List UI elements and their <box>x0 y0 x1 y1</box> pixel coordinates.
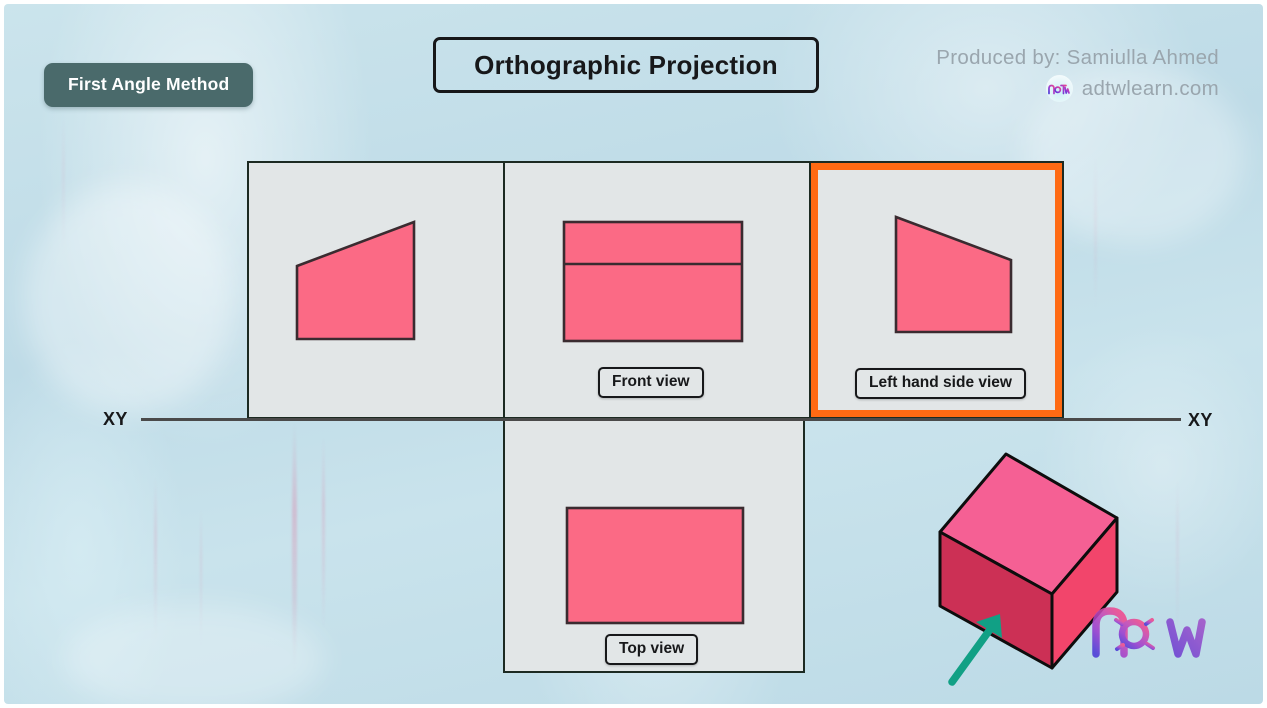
xy-label-left: XY <box>103 409 128 430</box>
slide-background: First Angle Method Orthographic Projecti… <box>4 4 1263 704</box>
marble-vein <box>322 434 325 634</box>
adtw-watermark <box>1090 596 1208 662</box>
first-angle-method-chip: First Angle Method <box>44 63 253 107</box>
marble-haze <box>64 604 324 704</box>
xy-label-right: XY <box>1188 410 1213 431</box>
produced-by-text: Produced by: Samiulla Ahmed <box>936 46 1219 70</box>
top-view-label: Top view <box>605 634 698 665</box>
title-box: Orthographic Projection <box>433 37 819 93</box>
right-hand-side-view-shape <box>249 163 503 417</box>
right-hand-side-view-panel[interactable] <box>247 161 505 419</box>
page-title: Orthographic Projection <box>474 50 778 81</box>
adtw-circle-logo-icon <box>1046 75 1073 102</box>
front-view-label: Front view <box>598 367 704 398</box>
left-hand-side-view-label: Left hand side view <box>855 368 1026 399</box>
xy-reference-line <box>141 418 1181 421</box>
slide-canvas: First Angle Method Orthographic Projecti… <box>0 0 1267 708</box>
marble-haze <box>24 184 234 414</box>
site-credit-text: adtwlearn.com <box>1082 77 1219 101</box>
site-credit-row: adtwlearn.com <box>936 75 1219 102</box>
credit-block: Produced by: Samiulla Ahmed <box>936 46 1219 102</box>
